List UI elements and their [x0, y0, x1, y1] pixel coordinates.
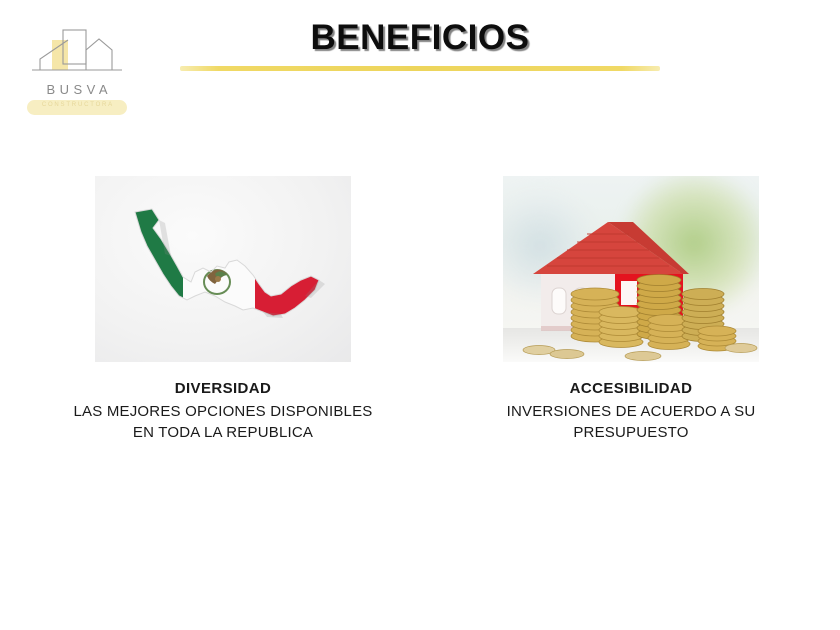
benefit-description-line: INVERSIONES DE ACUERDO A SU [436, 401, 826, 422]
benefit-description-line: EN TODA LA REPUBLICA [28, 422, 418, 443]
benefit-column-diversidad: DIVERSIDAD LAS MEJORES OPCIONES DISPONIB… [28, 176, 418, 444]
benefit-description: LAS MEJORES OPCIONES DISPONIBLES EN TODA… [28, 401, 418, 444]
benefit-description-line: PRESUPUESTO [436, 422, 826, 443]
benefit-title: ACCESIBILIDAD [436, 380, 826, 397]
benefit-title: DIVERSIDAD [28, 380, 418, 397]
benefit-column-accesibilidad: ACCESIBILIDAD INVERSIONES DE ACUERDO A S… [436, 176, 826, 444]
page-title: BENEFICIOS [180, 18, 660, 58]
logo-tagline-pill: CONSTRUCTORA [27, 100, 127, 115]
logo-brand-text: BUSVA [22, 82, 132, 97]
title-underline-rule [180, 66, 660, 71]
logo-tagline-text: CONSTRUCTORA [27, 102, 127, 108]
house-coins-image [503, 176, 759, 362]
mexico-map-flag-image [95, 176, 351, 362]
brand-logo: BUSVA CONSTRUCTORA [22, 26, 132, 121]
benefit-description: INVERSIONES DE ACUERDO A SU PRESUPUESTO [436, 401, 826, 444]
logo-mark [22, 26, 132, 84]
benefit-description-line: LAS MEJORES OPCIONES DISPONIBLES [28, 401, 418, 422]
abstract-building-outline-icon [22, 26, 132, 84]
